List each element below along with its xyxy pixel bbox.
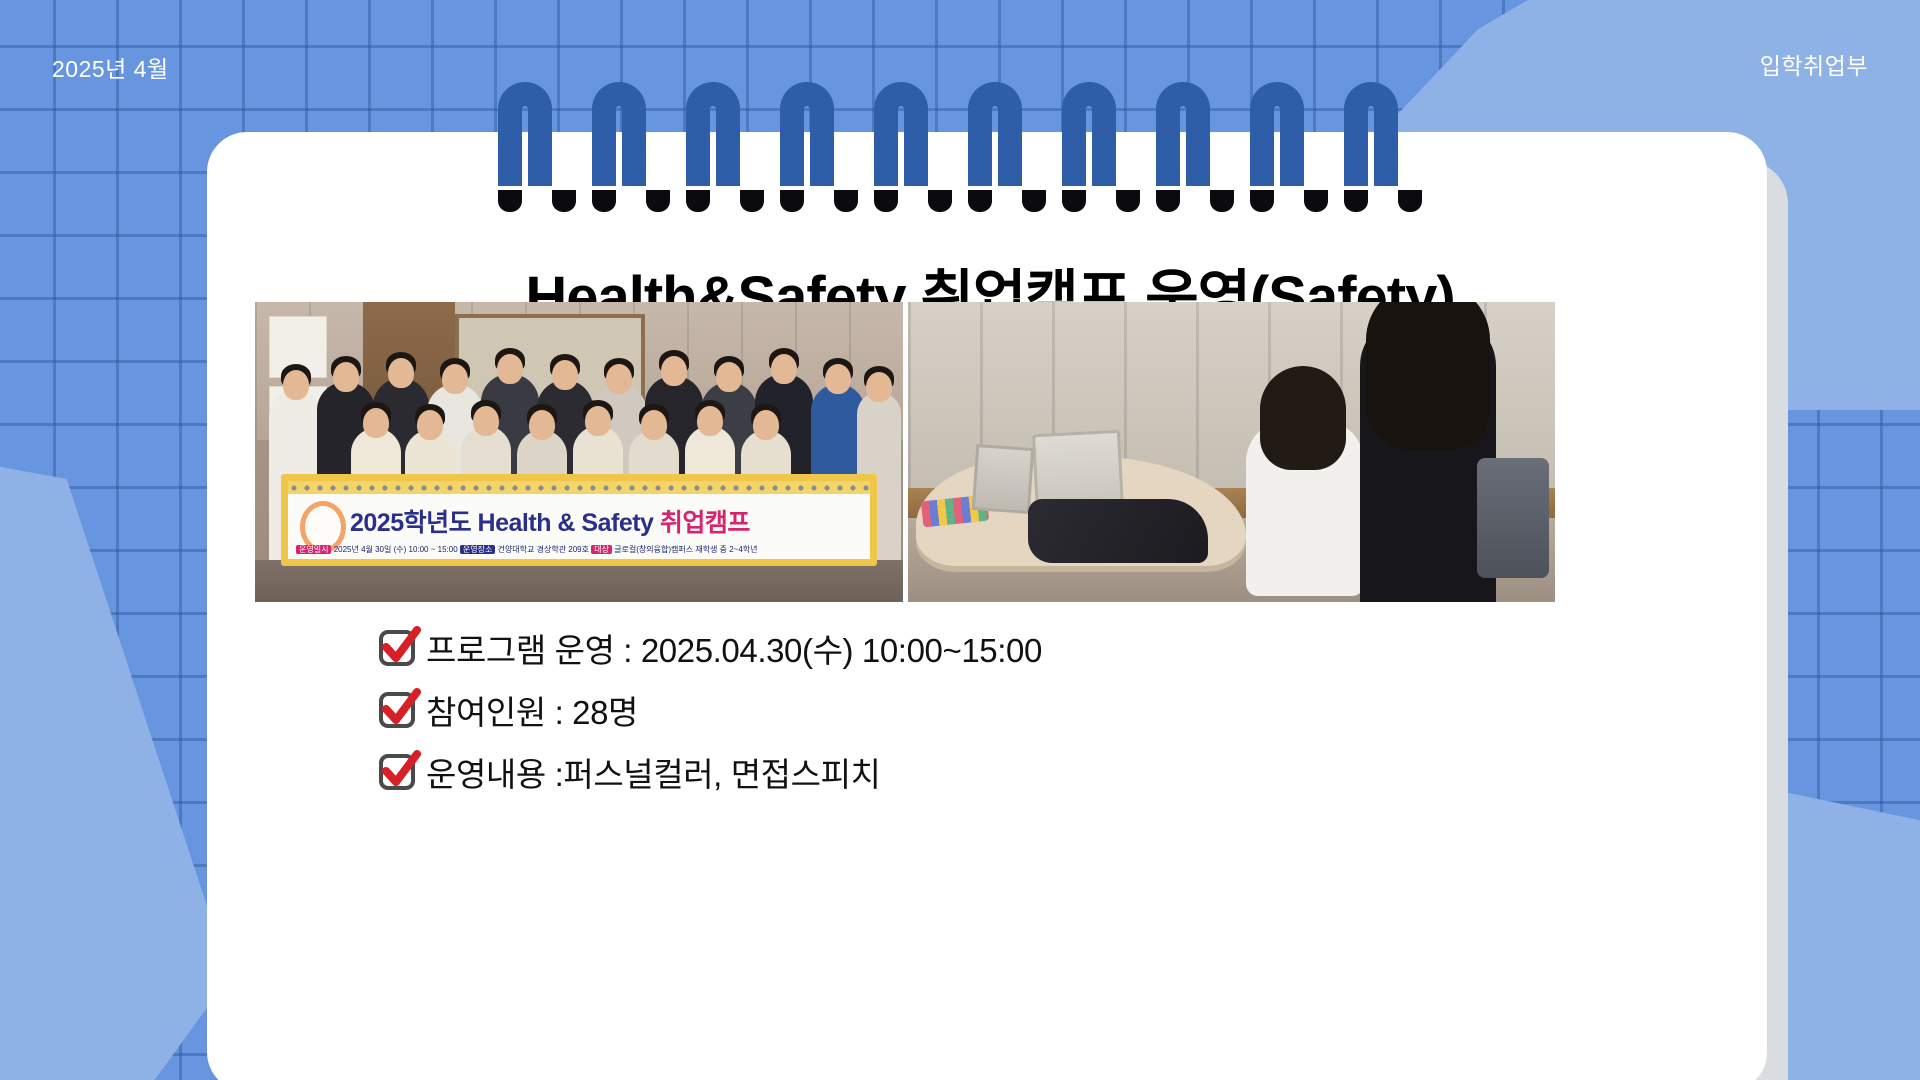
spiral-ring [1054, 82, 1148, 212]
photo-consultant [1360, 316, 1496, 602]
spiral-ring [1242, 82, 1336, 212]
spiral-ring [1148, 82, 1242, 212]
spiral-ring [490, 82, 584, 212]
checkbox-checked-icon [379, 692, 415, 728]
list-item-label: 참여인원 : 28명 [426, 686, 638, 734]
spiral-ring [1336, 82, 1430, 212]
header-department-label: 입학취업부 [1760, 47, 1868, 81]
photo-drape-fabric [1028, 499, 1208, 563]
checkbox-checked-icon [379, 754, 415, 790]
event-banner: 2025학년도 Health & Safety 취업캠프 운영일시 2025년 … [281, 474, 877, 566]
checkbox-checked-icon [379, 630, 415, 666]
photo-mirror-small [971, 444, 1033, 514]
photo-client [1246, 420, 1364, 596]
header-date-label: 2025년 4월 [52, 50, 169, 84]
list-item: 운영내용 :퍼스널컬러, 면접스피치 [379, 748, 1042, 796]
group-photo-with-banner: 2025학년도 Health & Safety 취업캠프 운영일시 2025년 … [255, 302, 903, 602]
detail-list: 프로그램 운영 : 2025.04.30(수) 10:00~15:00 참여인원… [379, 624, 1042, 796]
spiral-ring [866, 82, 960, 212]
spiral-ring [584, 82, 678, 212]
banner-title: 2025학년도 Health & Safety 취업캠프 [350, 503, 750, 539]
spiral-ring [960, 82, 1054, 212]
list-item-label: 프로그램 운영 : 2025.04.30(수) 10:00~15:00 [426, 624, 1042, 672]
content-card: Health&Safety 취업캠프 운영(Safety) [207, 132, 1767, 1080]
list-item: 참여인원 : 28명 [379, 686, 1042, 734]
banner-details: 운영일시 2025년 4월 30일 (수) 10:00 ~ 15:00 운영장소… [296, 544, 758, 555]
banner-eyelets [288, 481, 870, 494]
photo-floor [255, 560, 903, 602]
spiral-binding [490, 82, 1430, 212]
list-item: 프로그램 운영 : 2025.04.30(수) 10:00~15:00 [379, 624, 1042, 672]
personal-color-consulting-photo [908, 302, 1556, 602]
spiral-ring [772, 82, 866, 212]
photo-chair [1477, 458, 1549, 578]
photo-strip: 2025학년도 Health & Safety 취업캠프 운영일시 2025년 … [255, 302, 1555, 602]
spiral-ring [678, 82, 772, 212]
slide-canvas: 2025년 4월 입학취업부 Health&Safety 취업캠프 운영(Saf… [0, 0, 1920, 1080]
list-item-label: 운영내용 :퍼스널컬러, 면접스피치 [426, 748, 881, 796]
